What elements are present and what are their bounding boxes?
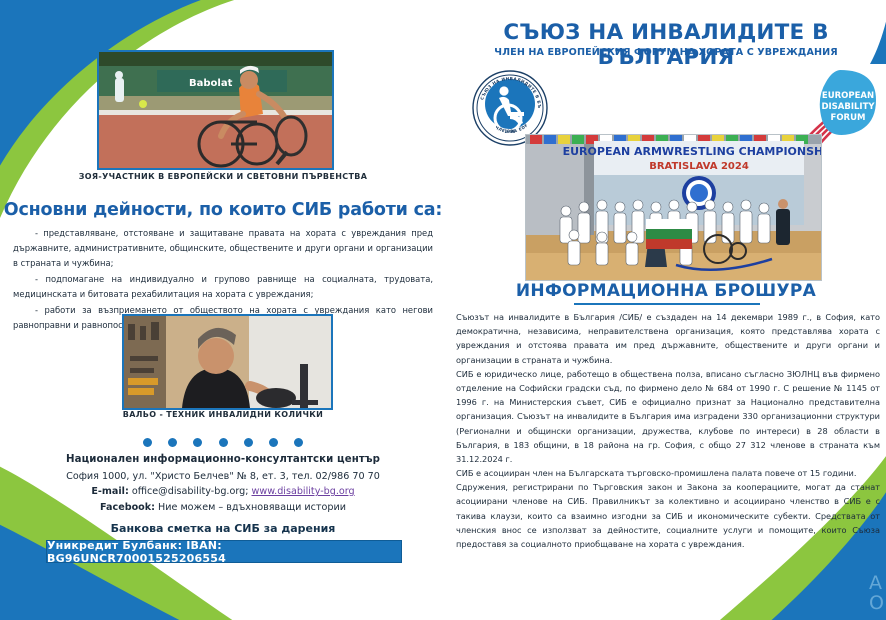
photo-tennis: Babolat — [97, 50, 334, 170]
contact-facebook-line: Facebook: Ние можем – вдъхновяващи истор… — [0, 500, 446, 516]
dot-separator — [0, 432, 446, 451]
photo-valyo — [122, 314, 333, 410]
edf-line2: DISABILITY — [821, 102, 875, 112]
edge-watermark-line2: О — [869, 594, 884, 614]
page-subtitle: ЧЛЕН НА ЕВРОПЕЙСКИЯ ФОРУМ НА ХОРАТА С УВ… — [452, 47, 880, 58]
separator-dot — [143, 438, 152, 447]
page-title: СЪЮЗ НА ИНВАЛИДИТЕ В БЪЛГАРИЯ — [452, 20, 880, 70]
activity-item: - подпомагане на индивидуално и групово … — [13, 272, 433, 302]
brochure-title-rule — [574, 303, 760, 305]
brochure-paragraph: Сдружения, регистрирани по Търговския за… — [456, 480, 880, 551]
facebook-value: Ние можем – вдъхновяващи истории — [158, 502, 346, 513]
brochure-paragraph: Съюзът на инвалидите в България /СИБ/ е … — [456, 310, 880, 367]
edge-watermark-line1: А — [869, 574, 884, 594]
separator-dot — [168, 438, 177, 447]
left-column: Babolat ЗОЯ-УЧАСТ — [0, 34, 446, 564]
brochure-page: Babolat ЗОЯ-УЧАСТ — [0, 0, 886, 620]
facebook-label: Facebook: — [100, 502, 155, 513]
armwrestling-banner-line2: BRATISLAVA 2024 — [649, 161, 749, 172]
photo-armwrestling-team: EUROPEAN ARMWRESTLING CHAMPIONSHIP BRATI… — [525, 134, 822, 281]
activities-title: Основни дейности, по които СИБ работи са… — [0, 200, 446, 220]
photo-valyo-caption: ВАЛЬО - ТЕХНИК ИНВАЛИДНИ КОЛИЧКИ — [0, 410, 446, 419]
website-link[interactable]: www.disability-bg.org — [252, 486, 355, 497]
svg-text:Babolat: Babolat — [189, 78, 233, 89]
activity-item: - представляване, отстояване и защитаван… — [13, 226, 433, 271]
separator-dot — [269, 438, 278, 447]
separator-dot — [193, 438, 202, 447]
contact-email-line: E-mail: office@disability-bg.org; www.di… — [0, 484, 446, 500]
svg-text:1989: 1989 — [504, 129, 515, 134]
brochure-paragraph: СИБ е юридическо лице, работещо в общест… — [456, 367, 880, 466]
email-value: office@disability-bg.org; — [132, 486, 249, 497]
brochure-title: ИНФОРМАЦИОННА БРОШУРА — [452, 281, 880, 301]
photo-tennis-caption: ЗОЯ-УЧАСТНИК В ЕВРОПЕЙСКИ И СВЕТОВНИ ПЪР… — [0, 172, 446, 181]
contact-address: София 1000, ул. "Христо Белчев" № 8, ет.… — [0, 469, 446, 485]
separator-dot — [294, 438, 303, 447]
separator-dot — [244, 438, 253, 447]
iban-bar: Уникредит Булбанк: IBAN: BG96UNCR7000152… — [46, 540, 402, 563]
brochure-paragraph: СИБ е асоцииран член на Българската търг… — [456, 466, 880, 480]
separator-dot — [219, 438, 228, 447]
bank-donation-title: Банкова сметка на СИБ за дарения — [0, 522, 446, 535]
right-column: СЪЮЗ НА ИНВАЛИДИТЕ В БЪЛГАРИЯ ЧЛЕН НА ЕВ… — [452, 0, 886, 620]
edge-watermark-text: А О — [869, 574, 884, 614]
edf-line1: EUROPEAN — [822, 91, 874, 101]
armwrestling-banner-line1: EUROPEAN ARMWRESTLING CHAMPIONSHIP — [563, 145, 821, 158]
edf-line3: FORUM — [831, 113, 866, 123]
contact-center-name: Национален информационно-консултантски ц… — [0, 452, 446, 469]
brochure-body: Съюзът на инвалидите в България /СИБ/ е … — [456, 310, 880, 551]
email-label: E-mail: — [91, 486, 128, 497]
contact-block: Национален информационно-консултантски ц… — [0, 452, 446, 515]
